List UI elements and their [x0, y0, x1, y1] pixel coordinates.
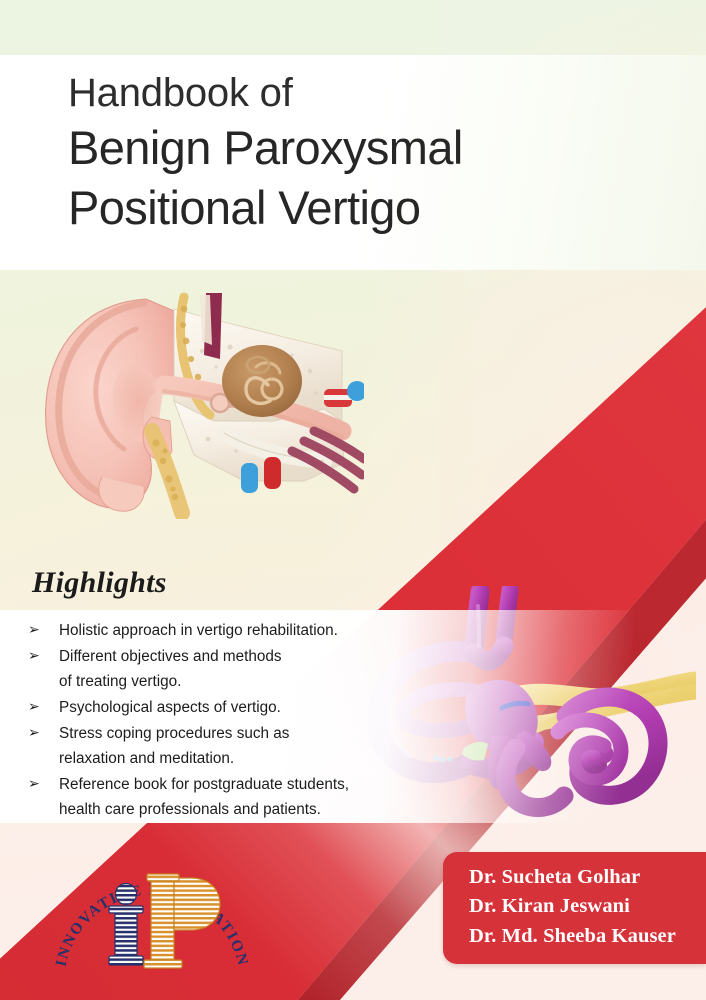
- list-item-text: Holistic approach in vertigo rehabilitat…: [59, 618, 338, 643]
- title-panel: Handbook of Benign Paroxysmal Positional…: [0, 55, 706, 270]
- arrow-bullet-icon: ➢: [28, 721, 59, 746]
- list-item-text: Reference book for postgraduate students…: [59, 772, 349, 822]
- title-block: Handbook of Benign Paroxysmal Positional…: [68, 69, 666, 238]
- list-item-text: Stress coping procedures such as relaxat…: [59, 721, 289, 771]
- list-item: ➢ Different objectives and methods of tr…: [28, 644, 400, 694]
- title-line-1: Handbook of: [68, 69, 666, 118]
- arrow-bullet-icon: ➢: [28, 644, 59, 669]
- arrow-bullet-icon: ➢: [28, 772, 59, 797]
- list-item: ➢ Psychological aspects of vertigo.: [28, 695, 400, 720]
- title-line-3: Positional Vertigo: [68, 178, 666, 238]
- list-item-text: Psychological aspects of vertigo.: [59, 695, 281, 720]
- publisher-logo: INNOVATIVE PUBLICATION: [52, 848, 252, 978]
- author-name: Dr. Kiran Jeswani: [469, 892, 690, 921]
- authors-box: Dr. Sucheta Golhar Dr. Kiran Jeswani Dr.…: [443, 852, 706, 964]
- arrow-bullet-icon: ➢: [28, 618, 59, 643]
- list-item: ➢ Reference book for postgraduate studen…: [28, 772, 400, 822]
- author-name: Dr. Md. Sheeba Kauser: [469, 922, 690, 951]
- list-item: ➢ Stress coping procedures such as relax…: [28, 721, 400, 771]
- title-line-2: Benign Paroxysmal: [68, 118, 666, 178]
- list-item-text: Different objectives and methods of trea…: [59, 644, 282, 694]
- ear-anatomy-illustration: [24, 281, 364, 519]
- author-name: Dr. Sucheta Golhar: [469, 863, 690, 892]
- book-cover: Handbook of Benign Paroxysmal Positional…: [0, 0, 706, 1000]
- list-item: ➢ Holistic approach in vertigo rehabilit…: [28, 618, 400, 643]
- arrow-bullet-icon: ➢: [28, 695, 59, 720]
- highlights-list: ➢ Holistic approach in vertigo rehabilit…: [28, 618, 400, 823]
- highlights-heading: Highlights: [32, 566, 167, 600]
